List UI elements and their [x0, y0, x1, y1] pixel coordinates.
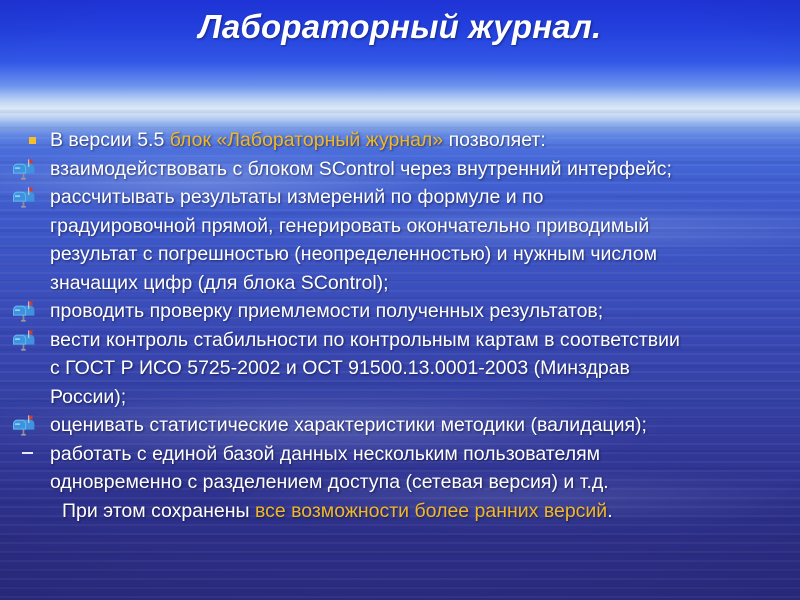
closing-line: При этом сохранены все возможности более…	[0, 497, 800, 526]
list-item: рассчитывать результаты измерений по фор…	[0, 183, 800, 212]
list-item-line: оценивать статистические характеристики …	[50, 414, 647, 436]
bullet-slot	[0, 155, 50, 184]
mailbox-icon	[12, 329, 36, 353]
list-item-line: вести контроль стабильности по контрольн…	[50, 329, 680, 351]
bullet-list: В версии 5.5 блок «Лабораторный журнал» …	[0, 126, 800, 525]
bullet-slot	[0, 326, 50, 355]
mailbox-icon	[12, 300, 36, 324]
bullet-slot	[0, 440, 50, 469]
closing-text-part-1: При этом сохранены	[62, 500, 255, 522]
intro-text-part-2: позволяет:	[443, 129, 546, 151]
list-item-line: результат с погрешностью (неопределеннос…	[50, 243, 657, 265]
list-item-line: проводить проверку приемлемости полученн…	[50, 300, 603, 322]
intro-text-highlight: блок «Лабораторный журнал»	[170, 129, 443, 151]
list-item-line: работать с единой базой данных нескольки…	[50, 443, 600, 465]
list-item-line: рассчитывать результаты измерений по фор…	[50, 186, 543, 208]
list-item-line: взаимодействовать с блоком SControl чере…	[50, 158, 672, 180]
list-item-line: России);	[50, 386, 126, 408]
mailbox-icon	[12, 186, 36, 210]
list-item-continuation: значащих цифр (для блока SControl);	[0, 269, 800, 298]
list-item-continuation: одновременно с разделением доступа (сете…	[0, 468, 800, 497]
list-item: взаимодействовать с блоком SControl чере…	[0, 155, 800, 184]
closing-text-part-2: .	[607, 500, 612, 522]
list-item: В версии 5.5 блок «Лабораторный журнал» …	[0, 126, 800, 155]
slide-title: Лабораторный журнал.	[0, 8, 800, 46]
list-item-line: значащих цифр (для блока SControl);	[50, 272, 389, 294]
list-item-line: градуировочной прямой, генерировать окон…	[50, 215, 649, 237]
list-item: работать с единой базой данных нескольки…	[0, 440, 800, 469]
list-item-line: с ГОСТ Р ИСО 5725-2002 и ОСТ 91500.13.00…	[50, 357, 630, 379]
list-item-continuation: результат с погрешностью (неопределеннос…	[0, 240, 800, 269]
bullet-slot	[0, 126, 50, 155]
mailbox-icon	[12, 158, 36, 182]
list-item-continuation: России);	[0, 383, 800, 412]
list-item-continuation: градуировочной прямой, генерировать окон…	[0, 212, 800, 241]
list-item-continuation: с ГОСТ Р ИСО 5725-2002 и ОСТ 91500.13.00…	[0, 354, 800, 383]
list-item: вести контроль стабильности по контрольн…	[0, 326, 800, 355]
square-bullet-icon	[29, 137, 36, 144]
mailbox-icon	[12, 414, 36, 438]
bullet-slot	[0, 183, 50, 212]
bullet-slot	[0, 411, 50, 440]
list-item-line: одновременно с разделением доступа (сете…	[50, 471, 609, 493]
closing-text-highlight: все возможности более ранних версий	[255, 500, 607, 522]
list-item: проводить проверку приемлемости полученн…	[0, 297, 800, 326]
bullet-slot	[0, 297, 50, 326]
dash-bullet-icon	[22, 452, 33, 454]
list-item: оценивать статистические характеристики …	[0, 411, 800, 440]
slide-canvas: Лабораторный журнал. В версии 5.5 блок «…	[0, 0, 800, 600]
intro-text-part-1: В версии 5.5	[50, 129, 170, 151]
